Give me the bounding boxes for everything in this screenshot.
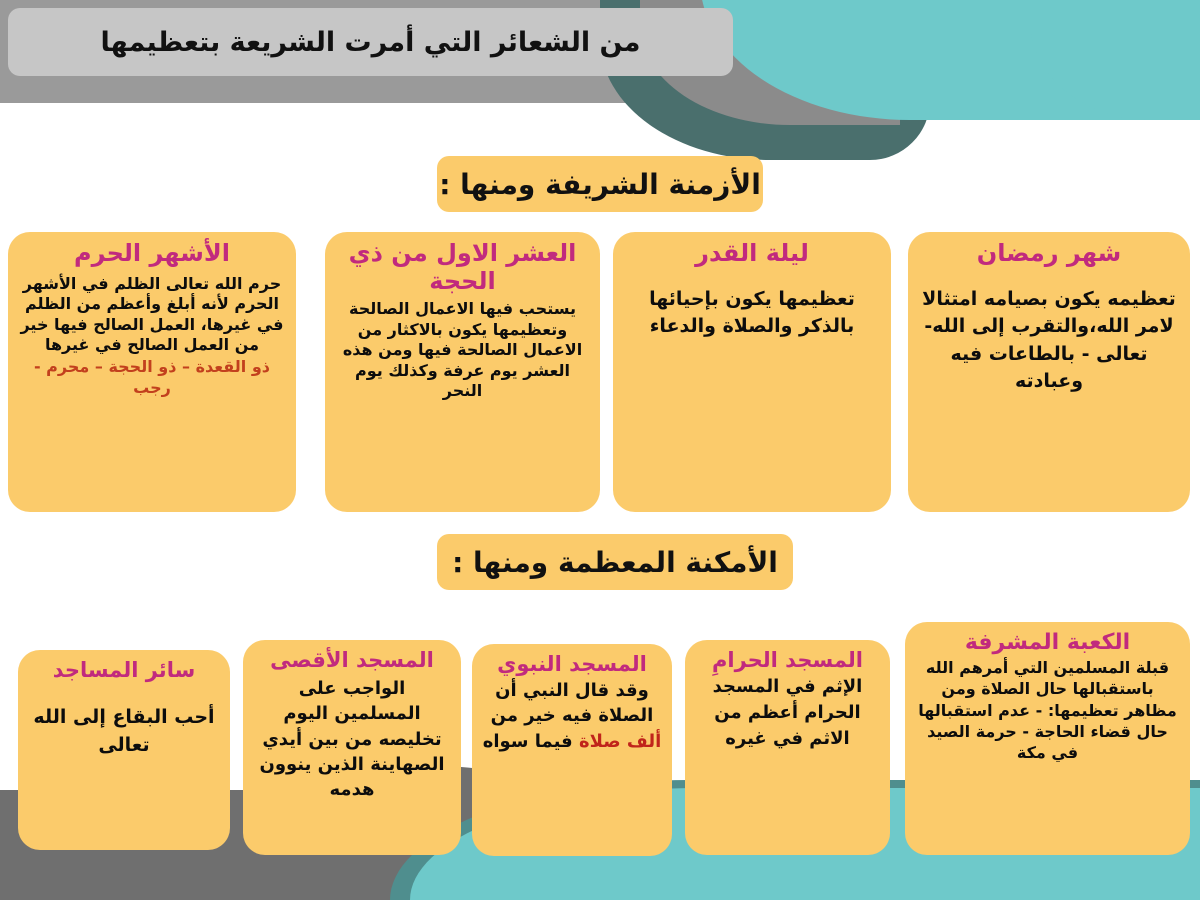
card-body: حرم الله تعالى الظلم في الأشهر الحرم لأن… xyxy=(18,274,286,356)
card-title: ليلة القدر xyxy=(623,240,881,268)
card-title: الأشهر الحرم xyxy=(18,240,286,268)
card-masjid-al-aqsa: المسجد الأقصى الواجب على المسلمين اليوم … xyxy=(243,640,461,855)
card-kaaba: الكعبة المشرفة قبلة المسلمين التي أمرهم … xyxy=(905,622,1190,855)
top-teal-swoosh xyxy=(700,0,1200,120)
card-title: المسجد الأقصى xyxy=(253,648,451,672)
card-body-highlight: ألف صلاة xyxy=(579,731,661,752)
card-title: المسجد النبوي xyxy=(482,652,662,676)
card-body: الواجب على المسلمين اليوم تخليصه من بين … xyxy=(253,676,451,802)
section-header-places: الأمكنة المعظمة ومنها : xyxy=(437,534,793,590)
card-title: المسجد الحرامِ xyxy=(695,648,880,672)
card-body: قبلة المسلمين التي أمرهم الله باستقبالها… xyxy=(915,657,1180,763)
card-body: يستحب فيها الاعمال الصالحة وتعظيمها يكون… xyxy=(335,299,590,401)
card-title: سائر المساجد xyxy=(28,658,220,682)
card-all-mosques: سائر المساجد أحب البقاع إلى الله تعالى xyxy=(18,650,230,850)
section-header-times: الأزمنة الشريفة ومنها : xyxy=(437,156,763,212)
card-title: العشر الاول من ذي الحجة xyxy=(335,240,590,295)
card-body: تعظيمه يكون بصيامه امتثالا لامر الله،وال… xyxy=(918,286,1180,396)
card-title: شهر رمضان xyxy=(918,240,1180,268)
title-plate: من الشعائر التي أمرت الشريعة بتعظيمها xyxy=(8,8,733,76)
slide-canvas: من الشعائر التي أمرت الشريعة بتعظيمها ال… xyxy=(0,0,1200,900)
card-sacred-months: الأشهر الحرم حرم الله تعالى الظلم في الأ… xyxy=(8,232,296,512)
card-note: ذو القعدة – ذو الحجة – محرم - رجب xyxy=(18,357,286,398)
card-masjid-an-nabawi: المسجد النبوي وقد قال النبي أن الصلاة في… xyxy=(472,644,672,856)
card-body: تعظيمها يكون بإحيائها بالذكر والصلاة وال… xyxy=(623,286,881,341)
card-title: الكعبة المشرفة xyxy=(915,630,1180,655)
card-laylat-al-qadr: ليلة القدر تعظيمها يكون بإحيائها بالذكر … xyxy=(613,232,891,512)
card-body: وقد قال النبي أن الصلاة فيه خير من ألف ص… xyxy=(482,678,662,754)
card-body: الإثم في المسجد الحرام أعظم من الاثم في … xyxy=(695,674,880,752)
page-title: من الشعائر التي أمرت الشريعة بتعظيمها xyxy=(100,27,640,58)
card-ramadan: شهر رمضان تعظيمه يكون بصيامه امتثالا لام… xyxy=(908,232,1190,512)
card-body-part-before: وقد قال النبي أن الصلاة فيه خير من xyxy=(491,680,654,726)
card-body: أحب البقاع إلى الله تعالى xyxy=(28,704,220,759)
card-body-part-after: فيما سواه xyxy=(483,731,579,752)
card-first-ten-dhul-hijjah: العشر الاول من ذي الحجة يستحب فيها الاعم… xyxy=(325,232,600,512)
top-teal-swoosh-secondary xyxy=(1030,0,1200,120)
card-masjid-al-haram: المسجد الحرامِ الإثم في المسجد الحرام أع… xyxy=(685,640,890,855)
